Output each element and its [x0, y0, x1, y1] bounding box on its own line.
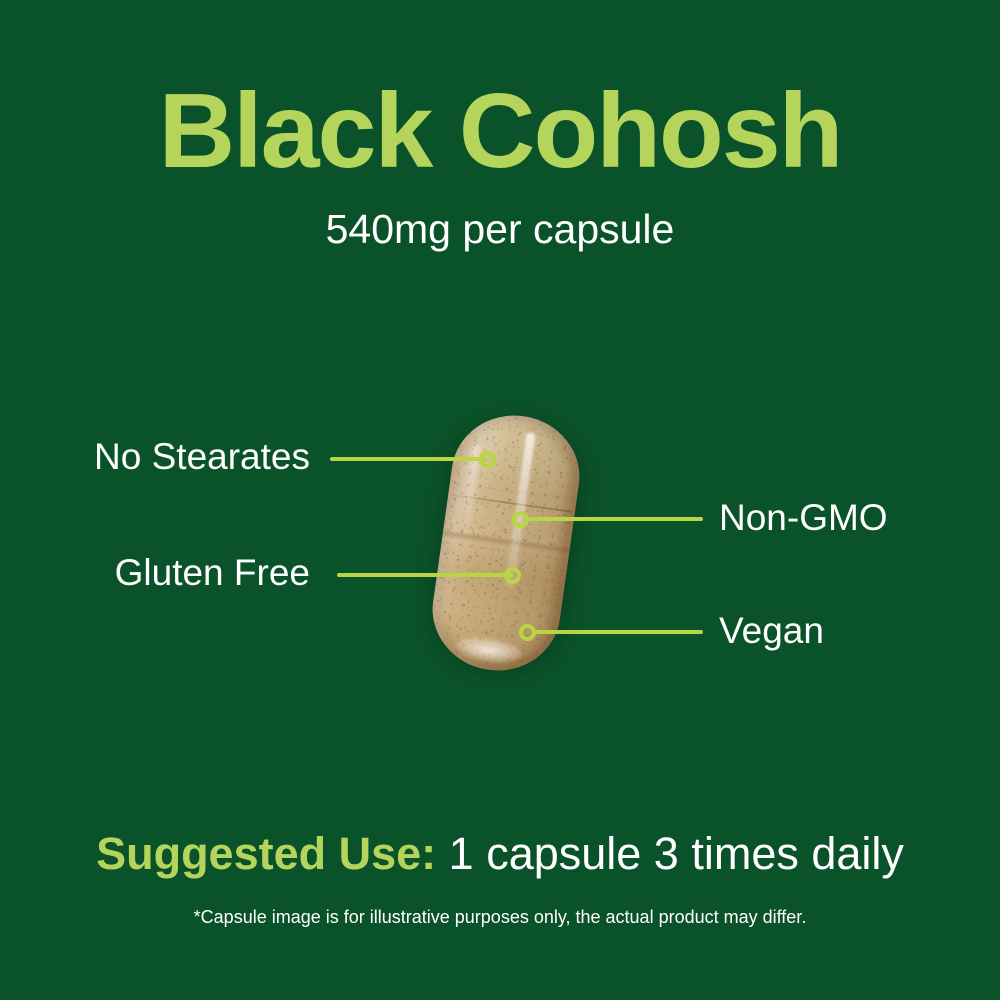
callout-label-non-gmo[interactable]: Non-GMO [719, 498, 888, 539]
suggested-use-value: 1 capsule 3 times daily [449, 828, 904, 879]
product-infographic: Black Cohosh 540mg per capsule No Steara… [0, 0, 1000, 1000]
capsule-body [425, 407, 587, 678]
disclaimer-text: *Capsule image is for illustrative purpo… [0, 907, 1000, 929]
callout-label-gluten-free[interactable]: Gluten Free [115, 553, 310, 594]
capsule-image [425, 407, 587, 678]
page-title: Black Cohosh [0, 78, 1000, 184]
suggested-use-label: Suggested Use: [96, 828, 436, 879]
callout-label-vegan[interactable]: Vegan [719, 611, 824, 652]
capsule-rim-shading [425, 407, 587, 678]
product-dosage-subtitle: 540mg per capsule [0, 206, 1000, 253]
callout-label-no-stearates[interactable]: No Stearates [94, 437, 310, 478]
suggested-use-line: Suggested Use: 1 capsule 3 times daily [0, 828, 1000, 880]
